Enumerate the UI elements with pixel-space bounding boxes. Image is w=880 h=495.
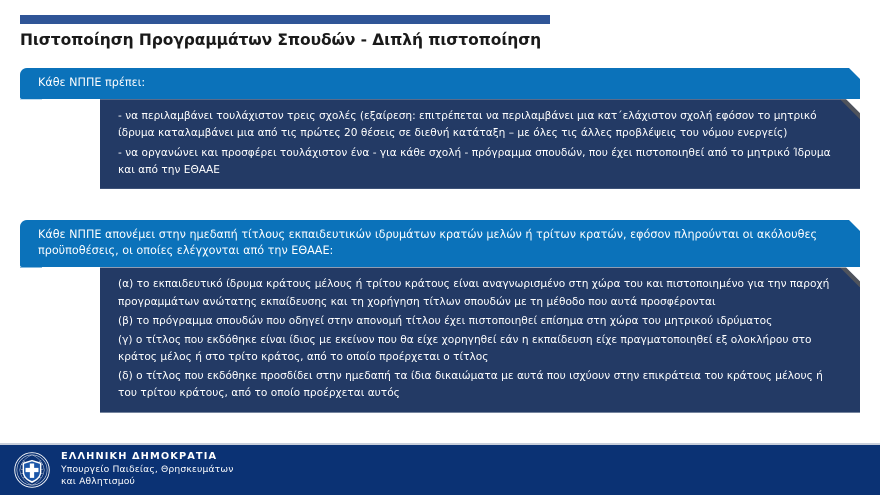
top-accent-bar xyxy=(20,15,550,24)
footer: ΕΛΛΗΝΙΚΗ ΔΗΜΟΚΡΑΤΙΑ Υπουργείο Παιδείας, … xyxy=(0,443,880,495)
group-2-paragraph-3: (γ) ο τίτλος που εκδόθηκε είναι ίδιος με… xyxy=(118,332,842,366)
footer-text-block: ΕΛΛΗΝΙΚΗ ΔΗΜΟΚΡΑΤΙΑ Υπουργείο Παιδείας, … xyxy=(61,451,234,488)
hellenic-republic-emblem-icon xyxy=(14,452,50,488)
group-2-paragraph-1: (α) το εκπαιδευτικό ίδρυμα κράτους μέλου… xyxy=(118,276,842,310)
folded-corner-icon xyxy=(840,99,860,119)
folded-corner-icon xyxy=(840,267,860,287)
group-2-header-band: Κάθε ΝΠΠΕ απονέμει στην ημεδαπή τίτλους … xyxy=(20,220,860,267)
band-tab-icon xyxy=(20,267,42,274)
group-2-body: (α) το εκπαιδευτικό ίδρυμα κράτους μέλου… xyxy=(100,267,860,412)
content-group-1: Κάθε ΝΠΠΕ πρέπει: - να περιλαμβάνει τουλ… xyxy=(20,68,860,189)
footer-line-ministry-cont: και Αθλητισμού xyxy=(61,476,234,488)
group-1-header-label: Κάθε ΝΠΠΕ πρέπει: xyxy=(38,76,145,89)
group-1-paragraph-2: - να οργανώνει και προσφέρει τουλάχιστον… xyxy=(118,145,842,179)
group-2-paragraph-2: (β) το πρόγραμμα σπουδών που οδηγεί στην… xyxy=(118,313,842,330)
page-title: Πιστοποίηση Προγραμμάτων Σπουδών - Διπλή… xyxy=(20,31,541,49)
band-tab-icon xyxy=(20,99,42,106)
footer-line-ministry: Υπουργείο Παιδείας, Θρησκευμάτων xyxy=(61,464,234,476)
group-1-paragraph-1: - να περιλαμβάνει τουλάχιστον τρεις σχολ… xyxy=(118,108,842,142)
group-2-header-label: Κάθε ΝΠΠΕ απονέμει στην ημεδαπή τίτλους … xyxy=(38,228,817,257)
group-1-header-band: Κάθε ΝΠΠΕ πρέπει: xyxy=(20,68,860,99)
group-1-body: - να περιλαμβάνει τουλάχιστον τρεις σχολ… xyxy=(100,99,860,189)
group-2-paragraph-4: (δ) ο τίτλος που εκδόθηκε προσδίδει στην… xyxy=(118,368,842,402)
content-group-2: Κάθε ΝΠΠΕ απονέμει στην ημεδαπή τίτλους … xyxy=(20,220,860,413)
footer-line-republic: ΕΛΛΗΝΙΚΗ ΔΗΜΟΚΡΑΤΙΑ xyxy=(61,451,234,464)
